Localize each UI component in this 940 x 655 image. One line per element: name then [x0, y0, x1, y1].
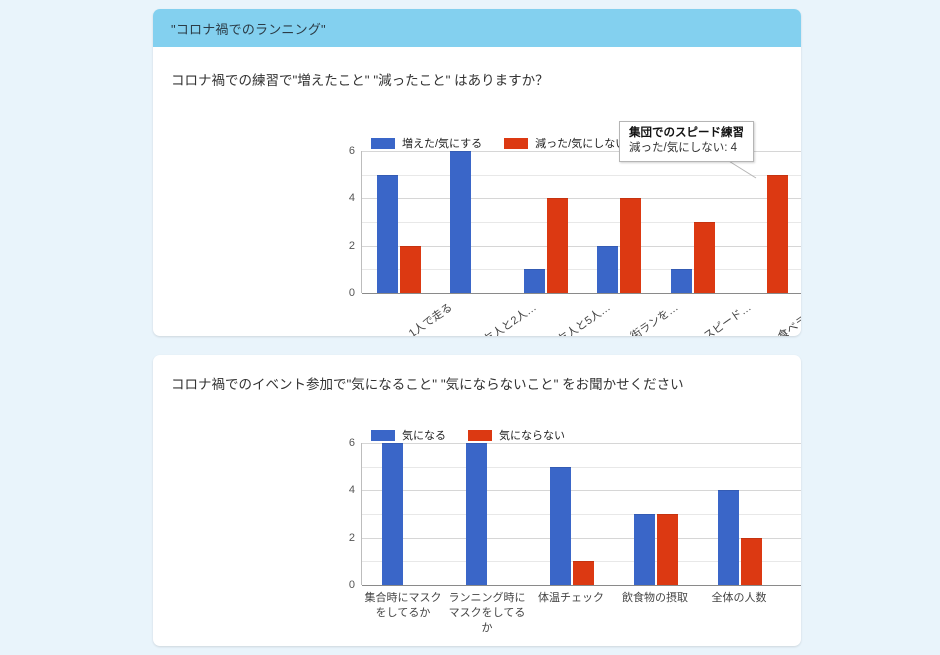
bar-group: [530, 443, 614, 585]
bar[interactable]: [400, 246, 421, 293]
x-axis-label: 1人で走る: [405, 299, 455, 336]
bar-group: [509, 151, 583, 293]
bar-chart-event: 気になる気にならない 0246 集合時にマスクをしてるかランニング時にマスクをし…: [153, 413, 801, 643]
x-axis-line: [362, 293, 801, 294]
bar-group: [656, 151, 730, 293]
bar[interactable]: [694, 222, 715, 293]
legend-swatch-icon: [504, 138, 528, 149]
question-text-2: コロナ禍でのイベント参加で"気になること" "気にならないこと" をお聞かせくだ…: [153, 355, 801, 393]
x-axis-label: 集合時にマスクをしてるか: [361, 587, 445, 636]
bar-group: [362, 443, 446, 585]
y-axis-tick: 4: [349, 484, 355, 496]
chart-tooltip: 集団でのスピード練習 減った/気にしない: 4: [619, 121, 754, 162]
bar-chart-practice: 増えた/気にする減った/気にしない 0246 1人で走る友人と2人…友人と5人……: [153, 119, 801, 334]
x-axis-label: 走行人数: [781, 587, 801, 636]
bar[interactable]: [597, 246, 618, 293]
survey-card-event: コロナ禍でのイベント参加で"気になること" "気にならないこと" をお聞かせくだ…: [153, 355, 801, 646]
x-axis-label: 全体の人数: [697, 587, 781, 636]
bar-group: [614, 443, 698, 585]
x-axis-labels: 1人で走る友人と2人…友人と5人…街ランを…スピード…食べラン…トレイル…集団で…: [361, 295, 801, 336]
tooltip-row: 減った/気にしない: 4: [629, 141, 744, 156]
x-axis-label: 飲食物の摂取: [613, 587, 697, 636]
bar[interactable]: [466, 443, 487, 585]
bar[interactable]: [524, 269, 545, 293]
bar[interactable]: [550, 467, 571, 585]
bar-group: [583, 151, 657, 293]
bar[interactable]: [657, 514, 678, 585]
y-axis-tick: 4: [349, 192, 355, 204]
chart-legend: 増えた/気にする減った/気にしない: [371, 135, 648, 151]
x-axis-label: スピード…: [700, 299, 754, 336]
question-text: コロナ禍での練習で"増えたこと" "減ったこと" はありますか？: [153, 47, 801, 89]
x-axis-label: 友人と2人…: [480, 299, 539, 336]
x-axis-label: 食べラン…: [774, 299, 801, 336]
bar-group: [436, 151, 510, 293]
chart-legend-2: 気になる気にならない: [371, 427, 587, 443]
bar[interactable]: [634, 514, 655, 585]
tooltip-title: 集団でのスピード練習: [629, 126, 744, 141]
bar[interactable]: [377, 175, 398, 293]
bar-groups: [362, 443, 801, 585]
y-axis-tick: 6: [349, 437, 355, 449]
bar[interactable]: [450, 151, 471, 293]
bar[interactable]: [573, 561, 594, 585]
bar[interactable]: [671, 269, 692, 293]
legend-swatch-icon: [468, 430, 492, 441]
legend-swatch-icon: [371, 430, 395, 441]
y-axis-tick: 0: [349, 287, 355, 299]
y-axis-tick: 6: [349, 145, 355, 157]
y-axis-tick: 2: [349, 532, 355, 544]
legend-item[interactable]: 気になる: [371, 427, 446, 443]
x-axis-label: 友人と5人…: [554, 299, 613, 336]
x-axis-labels-2: 集合時にマスクをしてるかランニング時にマスクをしてるか体温チェック飲食物の摂取全…: [361, 587, 801, 636]
legend-label: 気になる: [402, 427, 446, 443]
card-header: "コロナ禍でのランニング": [153, 9, 801, 47]
x-axis-label: ランニング時にマスクをしてるか: [445, 587, 529, 636]
bar[interactable]: [547, 198, 568, 293]
x-axis-label: 街ランを…: [627, 299, 681, 336]
survey-card-running: "コロナ禍でのランニング" コロナ禍での練習で"増えたこと" "減ったこと" は…: [153, 9, 801, 336]
legend-item[interactable]: 減った/気にしない: [504, 135, 626, 151]
y-axis-tick: 0: [349, 579, 355, 591]
legend-item[interactable]: 増えた/気にする: [371, 135, 482, 151]
x-axis-line: [362, 585, 801, 586]
legend-label: 増えた/気にする: [402, 135, 482, 151]
bar-group: [362, 151, 436, 293]
bar-group: [446, 443, 530, 585]
legend-item[interactable]: 気にならない: [468, 427, 565, 443]
bar[interactable]: [382, 443, 403, 585]
card-header-title: "コロナ禍でのランニング": [171, 19, 326, 38]
x-axis-label: 体温チェック: [529, 587, 613, 636]
legend-label: 気にならない: [499, 427, 565, 443]
bar[interactable]: [767, 175, 788, 293]
bar[interactable]: [718, 490, 739, 585]
bar[interactable]: [620, 198, 641, 293]
bar-group: [782, 443, 801, 585]
bar[interactable]: [741, 538, 762, 585]
bar-group: [698, 443, 782, 585]
plot-area-2: 0246: [361, 443, 801, 585]
y-axis-tick: 2: [349, 240, 355, 252]
legend-label: 減った/気にしない: [535, 135, 626, 151]
legend-swatch-icon: [371, 138, 395, 149]
